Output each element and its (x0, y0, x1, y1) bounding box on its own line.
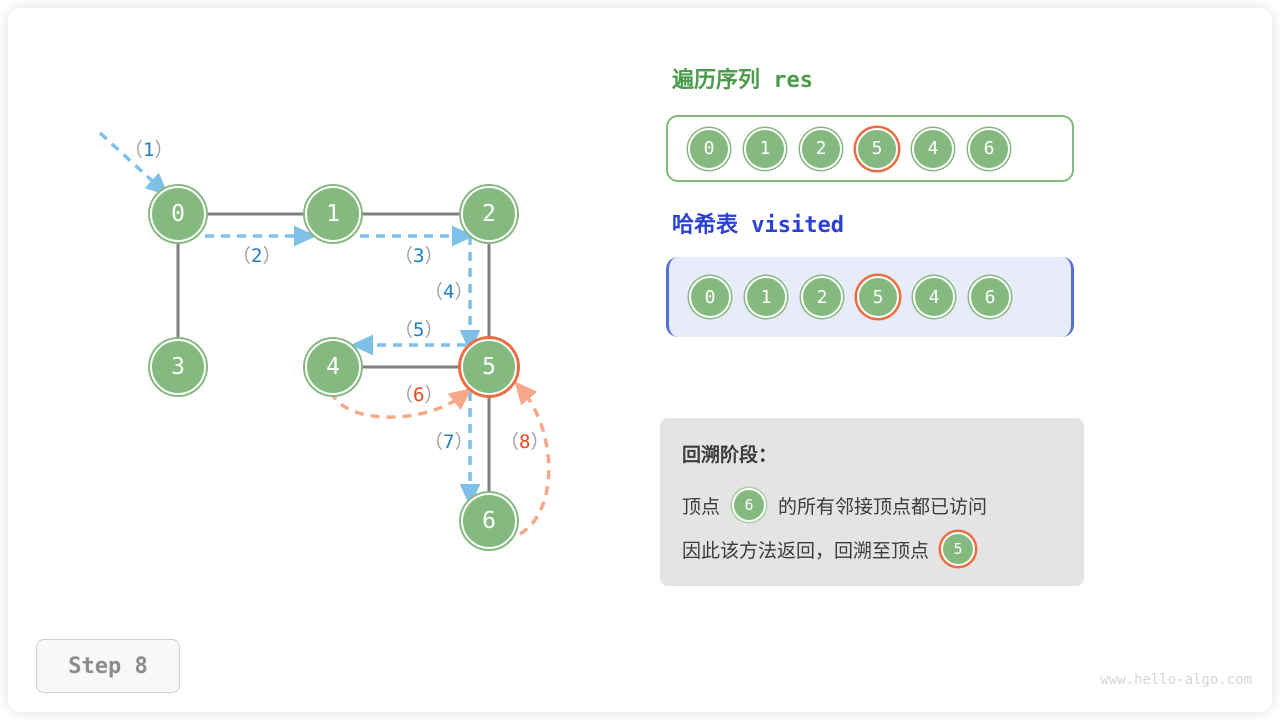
res-list: 0 1 2 5 4 6 (666, 115, 1074, 182)
step-label-3: （3） (394, 241, 443, 268)
res-chip[interactable]: 4 (912, 128, 954, 170)
res-chip-label: 1 (760, 138, 771, 159)
step-label-2-num: 2 (251, 245, 262, 267)
graph-edges-svg (0, 0, 640, 620)
visited-chip[interactable]: 2 (801, 276, 843, 318)
visited-chip-label: 1 (761, 287, 772, 308)
graph-node-3-label: 3 (171, 354, 185, 380)
page-root: 0 1 2 3 4 5 6 （1） （2） （3） （4） （5） （6） （7… (0, 0, 1280, 720)
graph-diagram: 0 1 2 3 4 5 6 （1） （2） （3） （4） （5） （6） （7… (0, 0, 640, 620)
graph-node-2-label: 2 (482, 201, 496, 227)
step-label-2: （2） (232, 241, 281, 268)
res-chip-highlighted[interactable]: 5 (856, 128, 898, 170)
res-chip[interactable]: 2 (800, 128, 842, 170)
step-label-5: （5） (394, 315, 443, 342)
info-box-line-2: 因此该方法返回，回溯至顶点 5 (682, 527, 1062, 571)
info-chip-vertex-5: 5 (941, 532, 975, 566)
graph-node-1[interactable]: 1 (305, 186, 361, 242)
info-line1-suffix: 的所有邻接顶点都已访问 (778, 492, 987, 519)
step-label-1: （1） (124, 135, 173, 162)
info-box-line-1: 顶点 6 的所有邻接顶点都已访问 (682, 483, 1062, 527)
graph-node-4-label: 4 (326, 354, 340, 380)
res-chip[interactable]: 0 (688, 128, 730, 170)
graph-node-0[interactable]: 0 (150, 186, 206, 242)
res-chip-label: 2 (816, 138, 827, 159)
graph-node-4[interactable]: 4 (305, 339, 361, 395)
visited-chip-label: 4 (929, 287, 940, 308)
backtrack-path-group (331, 390, 549, 534)
res-chip-label: 4 (928, 138, 939, 159)
arrow-step-8 (520, 390, 549, 534)
res-chip[interactable]: 1 (744, 128, 786, 170)
graph-node-5[interactable]: 5 (461, 339, 517, 395)
res-chip-label: 0 (704, 138, 715, 159)
visited-panel-title: 哈希表 visited (672, 207, 844, 239)
visited-chip[interactable]: 6 (969, 276, 1011, 318)
graph-node-3[interactable]: 3 (150, 339, 206, 395)
graph-node-2[interactable]: 2 (461, 186, 517, 242)
step-label-6: （6） (394, 380, 443, 407)
graph-node-0-label: 0 (171, 201, 185, 227)
info-line1-prefix: 顶点 (682, 492, 720, 519)
step-label-1-num: 1 (143, 139, 154, 161)
res-chip-label: 5 (872, 138, 883, 159)
graph-node-6[interactable]: 6 (461, 493, 517, 549)
forward-path-group (100, 133, 470, 495)
graph-node-6-label: 6 (482, 508, 496, 534)
visited-chip[interactable]: 0 (689, 276, 731, 318)
visited-chip-label: 5 (873, 287, 884, 308)
step-label-4-num: 4 (443, 281, 454, 303)
res-chip-label: 6 (984, 138, 995, 159)
backtrack-info-box: 回溯阶段： 顶点 6 的所有邻接顶点都已访问 因此该方法返回，回溯至顶点 5 (660, 418, 1084, 586)
step-label-8-num: 8 (519, 431, 530, 453)
info-chip-label: 6 (745, 496, 754, 514)
visited-chip-label: 6 (985, 287, 996, 308)
step-badge: Step 8 (36, 639, 180, 693)
res-panel-title: 遍历序列 res (672, 62, 813, 94)
graph-node-5-label: 5 (482, 354, 496, 380)
info-line2-prefix: 因此该方法返回，回溯至顶点 (682, 536, 929, 563)
info-box-heading: 回溯阶段： (682, 440, 1062, 467)
step-label-6-num: 6 (413, 384, 424, 406)
visited-chip[interactable]: 4 (913, 276, 955, 318)
visited-chip-label: 2 (817, 287, 828, 308)
info-chip-vertex-6: 6 (732, 488, 766, 522)
step-label-5-num: 5 (413, 319, 424, 341)
watermark: www.hello-algo.com (1100, 672, 1252, 688)
info-chip-label: 5 (954, 540, 963, 558)
res-chip[interactable]: 6 (968, 128, 1010, 170)
visited-chip-highlighted[interactable]: 5 (857, 276, 899, 318)
step-label-8: （8） (500, 427, 549, 454)
step-label-7-num: 7 (443, 431, 454, 453)
right-panel: 遍历序列 res 0 1 2 5 4 6 哈希表 visited 0 1 2 5… (660, 0, 1220, 700)
step-label-4: （4） (424, 277, 473, 304)
graph-node-1-label: 1 (326, 201, 340, 227)
step-label-3-num: 3 (413, 245, 424, 267)
visited-chip[interactable]: 1 (745, 276, 787, 318)
visited-chip-label: 0 (705, 287, 716, 308)
step-label-7: （7） (424, 427, 473, 454)
visited-list: 0 1 2 5 4 6 (666, 257, 1074, 337)
